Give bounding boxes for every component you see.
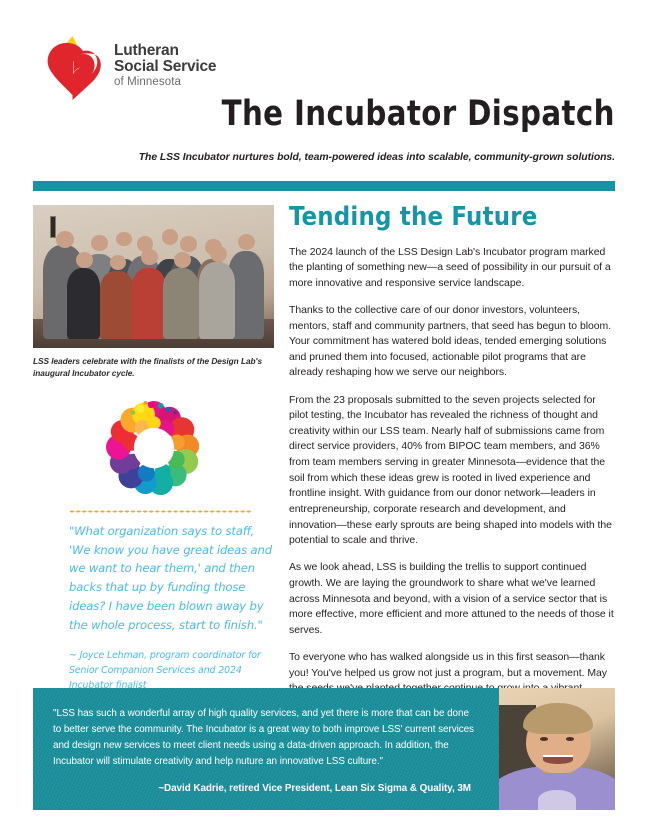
photo-caption: LSS leaders celebrate with the finalists… [33,355,274,380]
pull-quote-attribution: ~ Joyce Lehman, program coordinator for … [69,648,274,694]
newsletter-page: Lutheran Social Service of Minnesota The… [0,0,648,838]
dotted-divider [69,510,251,513]
teal-rule-divider [33,181,615,191]
testimonial-portrait-photo [499,688,615,810]
pull-quote: "What organization says to staff, 'We kn… [69,522,274,635]
testimonial-text-block: "LSS has such a wonderful array of high … [33,688,499,810]
colorful-bubble-ring-icon [106,400,202,496]
article-paragraph: From the 23 proposals submitted to the s… [289,393,615,549]
testimonial-panel: "LSS has such a wonderful array of high … [33,688,615,810]
organization-logo: Lutheran Social Service of Minnesota [42,30,216,102]
article-paragraph: The 2024 launch of the LSS Design Lab's … [289,245,615,292]
flame-heart-logo-icon [42,30,102,102]
article-paragraph: As we look ahead, LSS is building the tr… [289,560,615,638]
testimonial-quote: "LSS has such a wonderful array of high … [53,706,475,770]
organization-wordmark: Lutheran Social Service of Minnesota [114,43,216,88]
bubble-graphic-container [33,398,274,498]
publication-title: The Incubator Dispatch [222,94,615,134]
testimonial-attribution: ~David Kadrie, retired Vice President, L… [53,783,475,794]
masthead: Lutheran Social Service of Minnesota The… [0,0,648,175]
wall-art-icon [50,216,56,238]
org-name-line2: Social Service [114,59,216,75]
group-photo [33,205,274,348]
left-column: LSS leaders celebrate with the finalists… [33,205,274,693]
publication-subtitle: The LSS Incubator nurtures bold, team-po… [139,152,615,163]
org-name-line1: Lutheran [114,43,216,59]
article-heading: Tending the Future [289,205,615,231]
org-name-line3: of Minnesota [114,77,216,89]
article-paragraph: Thanks to the collective care of our don… [289,303,615,381]
right-column: Tending the Future The 2024 launch of th… [289,205,615,728]
